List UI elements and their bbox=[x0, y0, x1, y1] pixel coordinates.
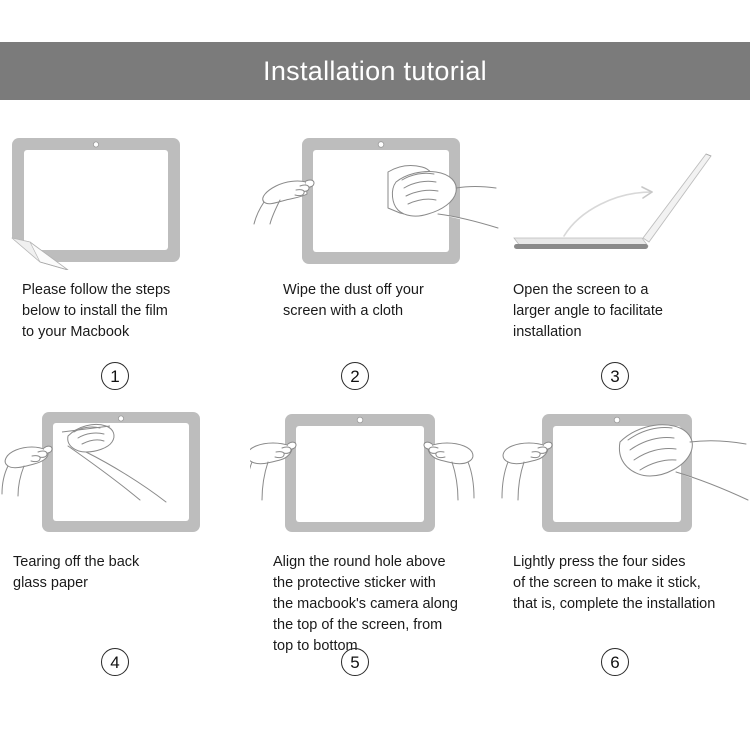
tutorial-step-3: Open the screen to a larger angle to fac… bbox=[500, 130, 750, 402]
step-4-number: 4 bbox=[110, 654, 119, 671]
step-6-badge: 6 bbox=[601, 648, 629, 676]
step-6-caption: Lightly press the four sides of the scre… bbox=[500, 552, 750, 615]
step-2-illustration bbox=[250, 130, 500, 270]
screen-with-peeling-film-corner-icon bbox=[0, 130, 250, 270]
tutorial-step-1: Please follow the steps below to install… bbox=[0, 130, 250, 402]
step-1-badge: 1 bbox=[101, 362, 129, 390]
page-title: Installation tutorial bbox=[263, 58, 487, 85]
tutorial-step-4: Tearing off the back glass paper 4 bbox=[0, 402, 250, 657]
step-2-caption: Wipe the dust off your screen with a clo… bbox=[250, 280, 500, 322]
tutorial-step-6: Lightly press the four sides of the scre… bbox=[500, 402, 750, 657]
step-1-number: 1 bbox=[110, 368, 119, 385]
step-4-caption: Tearing off the back glass paper bbox=[0, 552, 250, 594]
step-5-caption: Align the round hole above the protectiv… bbox=[250, 552, 500, 657]
hands-wiping-screen-with-cloth-icon bbox=[250, 130, 500, 270]
step-6-illustration bbox=[500, 402, 750, 542]
step-1-caption: Please follow the steps below to install… bbox=[0, 280, 250, 343]
step-5-number: 5 bbox=[350, 654, 359, 671]
laptop-side-view-opening-arrow-icon bbox=[500, 130, 750, 270]
step-6-number: 6 bbox=[610, 654, 619, 671]
step-3-number: 3 bbox=[610, 368, 619, 385]
step-5-badge: 5 bbox=[341, 648, 369, 676]
hand-pressing-screen-icon bbox=[500, 402, 750, 542]
tutorial-step-2: Wipe the dust off your screen with a clo… bbox=[250, 130, 500, 402]
step-3-illustration bbox=[500, 130, 750, 270]
step-5-illustration bbox=[250, 402, 500, 542]
two-hands-aligning-film-icon bbox=[250, 402, 500, 542]
step-3-badge: 3 bbox=[601, 362, 629, 390]
header-banner: Installation tutorial bbox=[0, 42, 750, 100]
step-4-badge: 4 bbox=[101, 648, 129, 676]
step-2-badge: 2 bbox=[341, 362, 369, 390]
step-3-caption: Open the screen to a larger angle to fac… bbox=[500, 280, 750, 343]
step-4-illustration bbox=[0, 402, 250, 542]
tutorial-steps-grid: Please follow the steps below to install… bbox=[0, 130, 750, 657]
hands-peeling-back-paper-icon bbox=[0, 402, 250, 542]
step-1-illustration bbox=[0, 130, 250, 270]
step-2-number: 2 bbox=[350, 368, 359, 385]
tutorial-step-5: Align the round hole above the protectiv… bbox=[250, 402, 500, 657]
